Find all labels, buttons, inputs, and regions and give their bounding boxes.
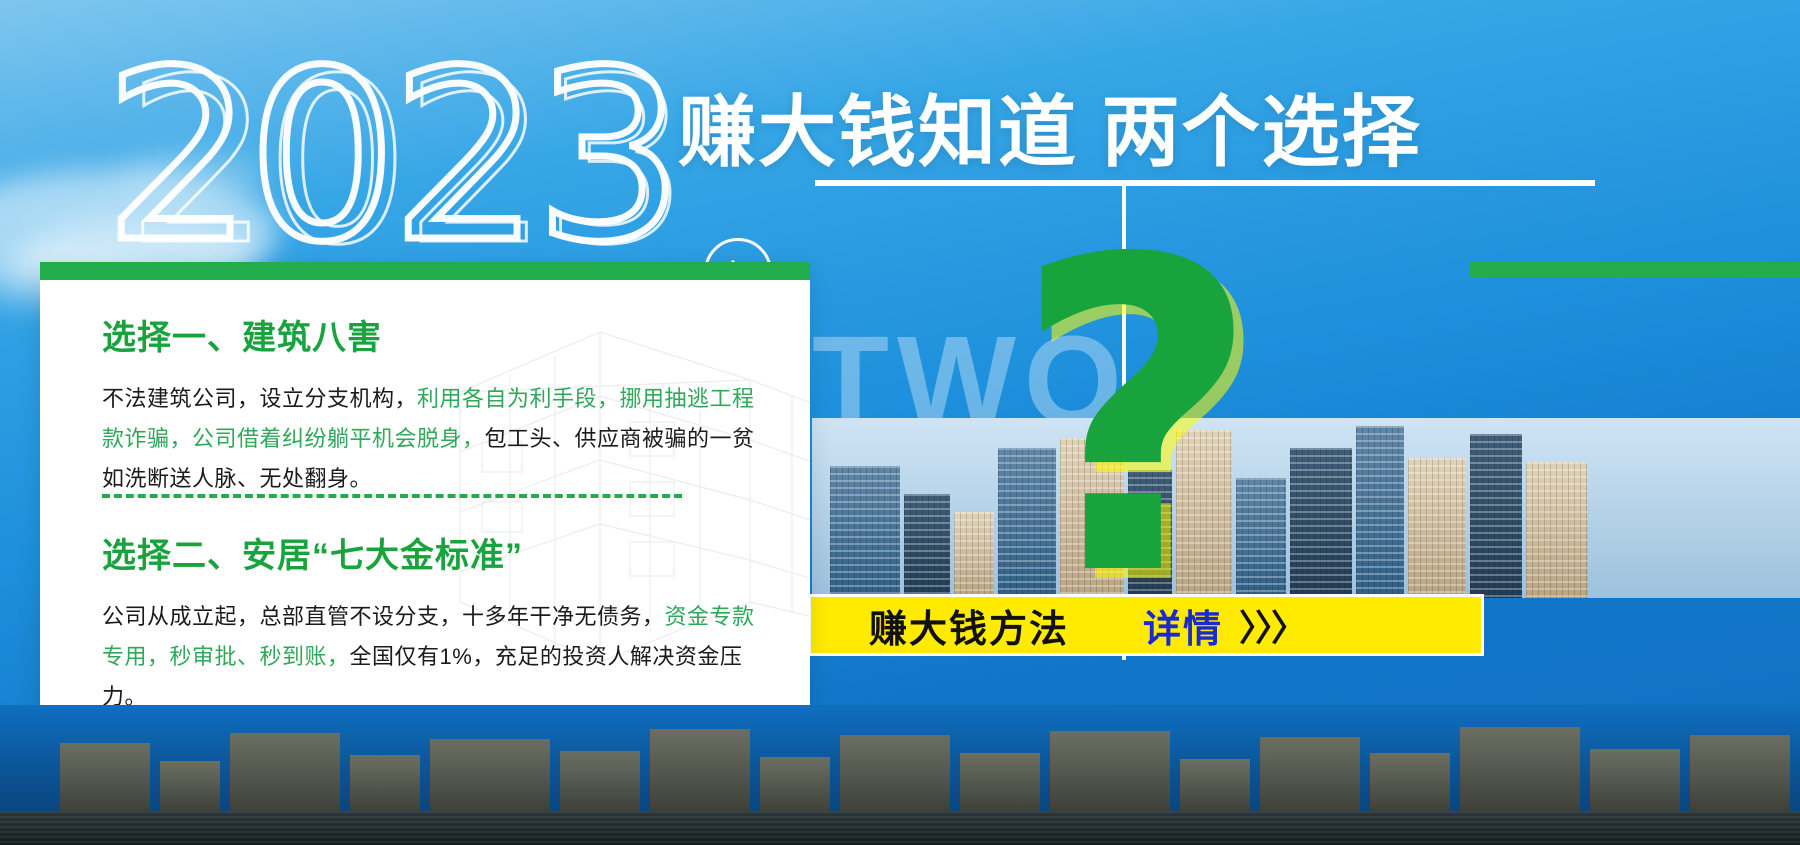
text-run: 公司从成立起，总部直管不设分支，十多年干净无债务， — [102, 604, 665, 629]
text-run-highlight: 诈骗，公司借着纠纷躺平机会脱身， — [125, 426, 485, 451]
question-mark-icon: ? — [1012, 205, 1261, 635]
cta-detail-link[interactable]: 详情 — [1143, 598, 1223, 653]
chevron-right-icon: 〉〉〉 — [1239, 599, 1305, 651]
year-number: 2023 — [104, 40, 678, 275]
poster-canvas: 2023 2023 年 赚大钱知道 两个选择 TWO CHOICES ? 赚大钱… — [0, 0, 1800, 845]
section-1-title: 选择一、建筑八害 — [102, 310, 782, 359]
text-run-highlight: 用，秒审批、秒到账， — [125, 644, 350, 669]
card-section-2: 选择二、安居“七大金标准” 公司从成立起，总部直管不设分支，十多年干净无债务，资… — [102, 528, 782, 707]
text-run: 不法建筑公司，设立分支机构， — [102, 386, 417, 411]
content-card: 选择一、建筑八害 不法建筑公司，设立分支机构，利用各自为利手段，挪用抽逃工程款诈… — [40, 262, 810, 707]
section-2-title: 选择二、安居“七大金标准” — [102, 528, 782, 577]
green-accent-bar — [1470, 262, 1800, 278]
section-1-body: 不法建筑公司，设立分支机构，利用各自为利手段，挪用抽逃工程款诈骗，公司借着纠纷躺… — [102, 379, 774, 499]
bottom-city-strip — [0, 705, 1800, 845]
poster-headline: 赚大钱知道 两个选择 — [678, 70, 1422, 182]
section-2-body: 公司从成立起，总部直管不设分支，十多年干净无债务，资金专款专用，秒审批、秒到账，… — [102, 597, 774, 707]
text-run: 断送人脉、无处翻身。 — [147, 466, 372, 491]
city-skyline-photo-right — [1602, 418, 1800, 598]
cta-banner[interactable]: 赚大钱方法 详情 〉〉〉 — [808, 594, 1484, 656]
section-divider — [102, 494, 682, 498]
cta-label: 赚大钱方法 — [869, 598, 1069, 653]
card-section-1: 选择一、建筑八害 不法建筑公司，设立分支机构，利用各自为利手段，挪用抽逃工程款诈… — [102, 310, 782, 499]
year-graphic: 2023 2023 年 — [104, 62, 724, 277]
